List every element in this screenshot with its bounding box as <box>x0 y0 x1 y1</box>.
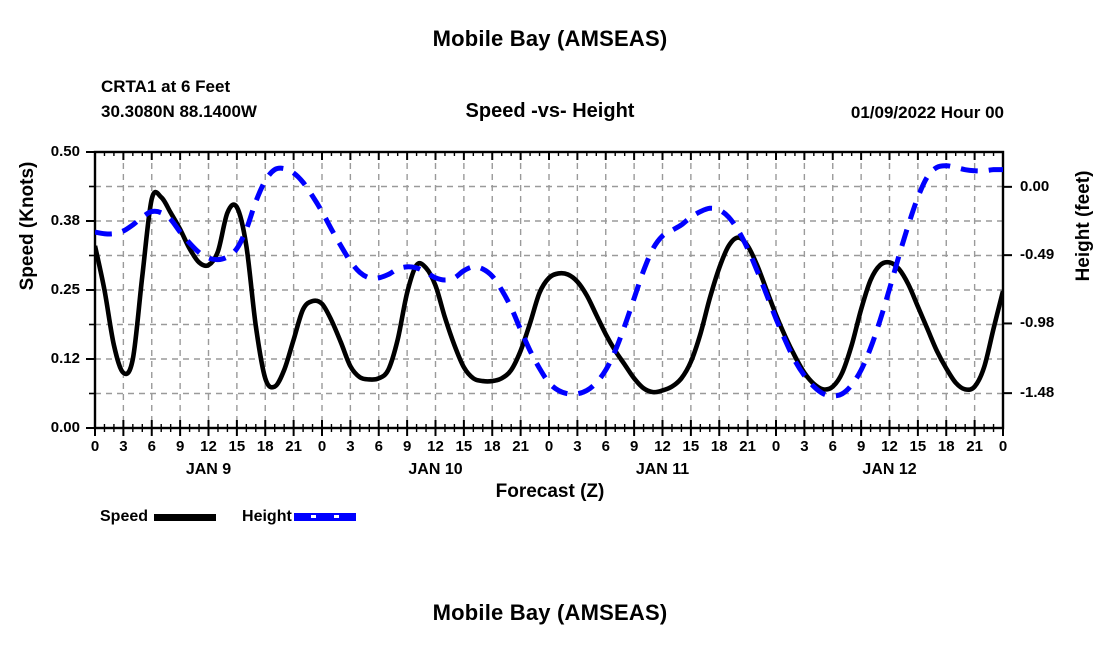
legend-item-height: Height <box>242 508 356 526</box>
y-axis-right-tick-label: -1.48 <box>1020 384 1100 401</box>
legend-swatch-speed-icon <box>154 514 216 521</box>
y-axis-left-tick-label: 0.00 <box>0 419 80 436</box>
x-axis-day-label: JAN 10 <box>376 461 496 479</box>
chart-plot-area <box>0 0 1100 650</box>
chart-page: Mobile Bay (AMSEAS) CRTA1 at 6 Feet 30.3… <box>0 0 1100 650</box>
y-axis-right-tick-label: 0.00 <box>1020 178 1100 195</box>
y-axis-left-tick-label: 0.38 <box>0 212 80 229</box>
y-axis-left-tick-label: 0.25 <box>0 281 80 298</box>
x-axis-day-label: JAN 12 <box>830 461 950 479</box>
x-axis-day-label: JAN 9 <box>149 461 269 479</box>
chart-legend: Speed Height <box>100 507 356 527</box>
footer-title: Mobile Bay (AMSEAS) <box>0 600 1100 626</box>
y-axis-right-tick-label: -0.98 <box>1020 314 1100 331</box>
legend-label-speed: Speed <box>100 508 148 526</box>
legend-label-height: Height <box>242 508 292 526</box>
legend-swatch-height-icon <box>294 513 356 521</box>
y-axis-right-tick-label: -0.49 <box>1020 246 1100 263</box>
x-axis-tick-label: 0 <box>983 438 1023 455</box>
legend-spacer <box>216 517 242 518</box>
x-axis-day-label: JAN 11 <box>603 461 723 479</box>
y-axis-left-tick-label: 0.50 <box>0 143 80 160</box>
y-axis-left-tick-label: 0.12 <box>0 350 80 367</box>
legend-item-speed: Speed <box>100 508 216 526</box>
